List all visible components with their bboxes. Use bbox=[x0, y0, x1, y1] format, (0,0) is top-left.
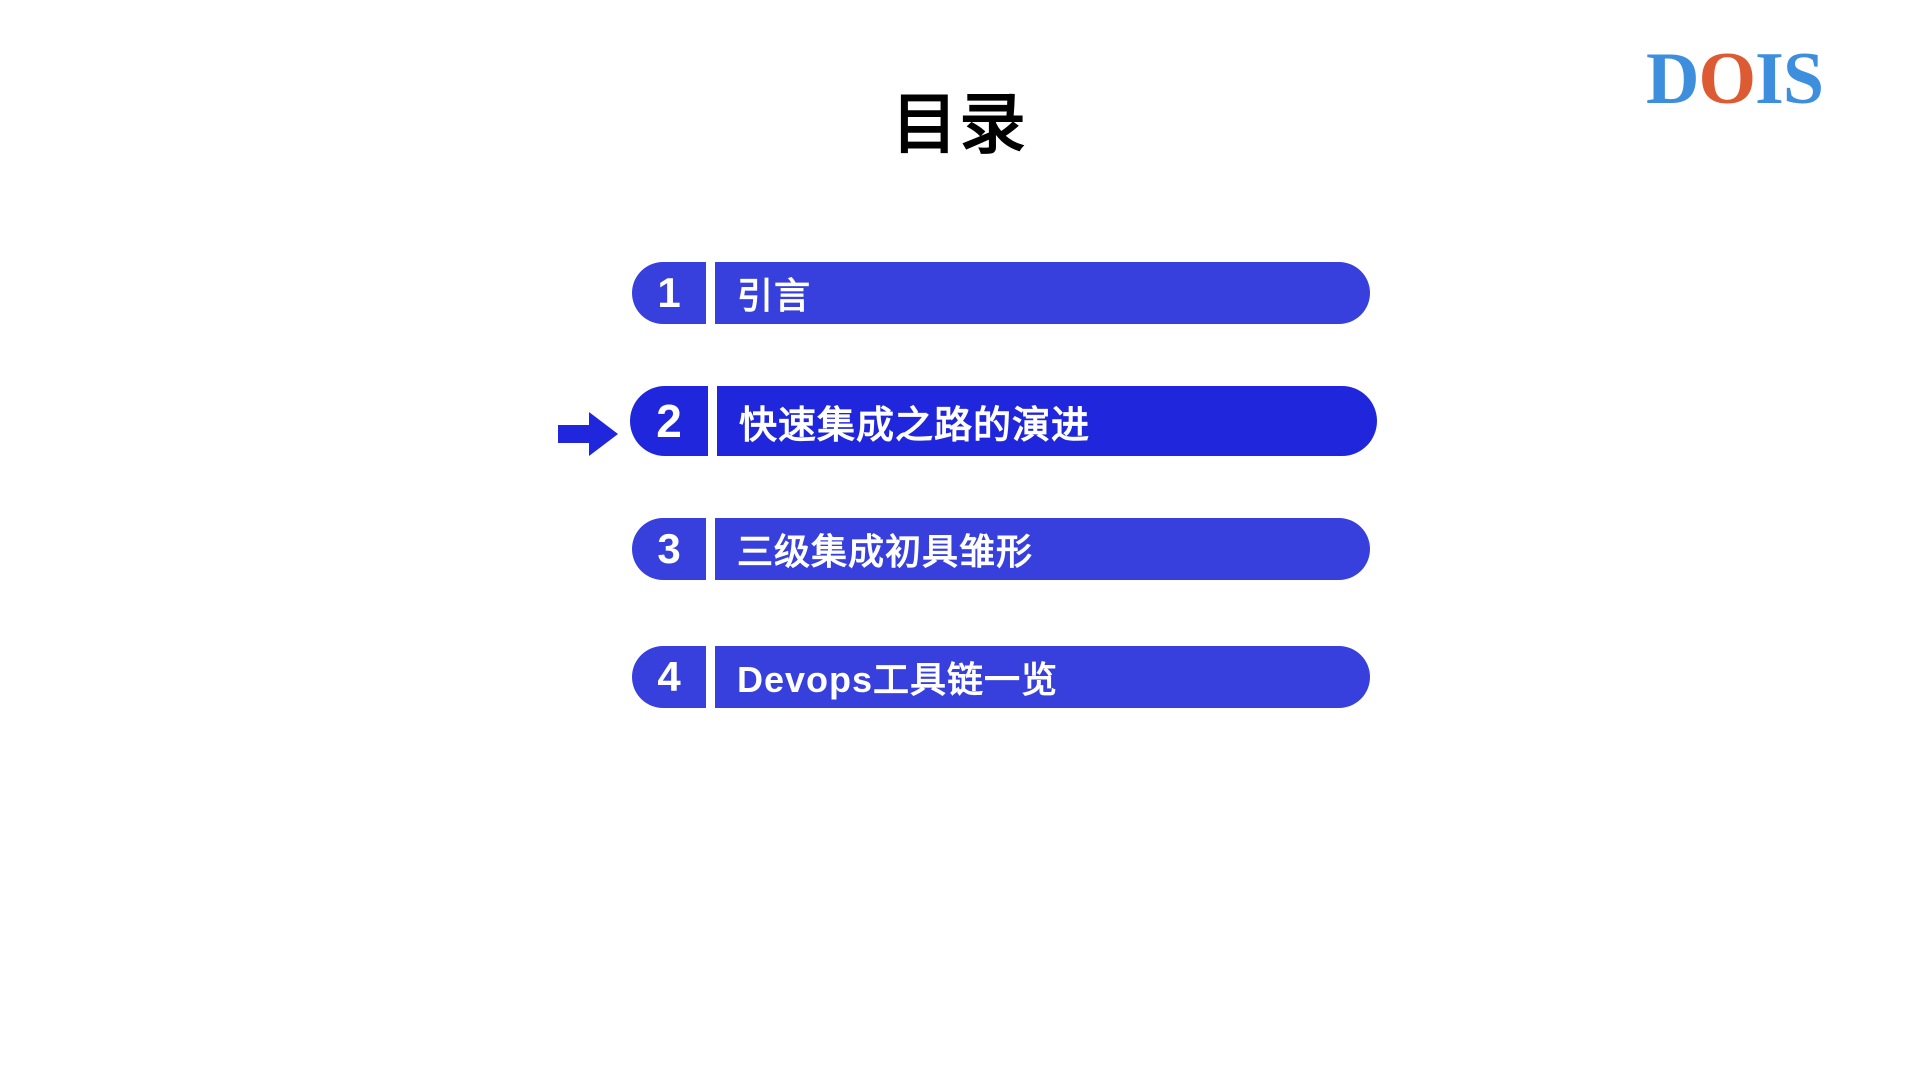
toc-number-badge: 3 bbox=[632, 518, 706, 580]
toc-item-4[interactable]: 4 Devops工具链一览 bbox=[632, 646, 1370, 708]
toc-divider bbox=[706, 646, 715, 708]
toc-item-label: 三级集成初具雏形 bbox=[715, 518, 1370, 580]
toc-row: 3 三级集成初具雏形 bbox=[0, 518, 1919, 646]
toc-item-3[interactable]: 3 三级集成初具雏形 bbox=[632, 518, 1370, 580]
toc-row: 4 Devops工具链一览 bbox=[0, 646, 1919, 774]
toc-list: 1 引言 2 快速集成之路的演进 3 三级集成初具雏形 4 Devops工 bbox=[0, 262, 1919, 774]
toc-item-1[interactable]: 1 引言 bbox=[632, 262, 1370, 324]
page-title: 目录 bbox=[0, 88, 1919, 161]
toc-divider bbox=[708, 386, 717, 456]
toc-divider bbox=[706, 518, 715, 580]
toc-divider bbox=[706, 262, 715, 324]
toc-number-badge: 4 bbox=[632, 646, 706, 708]
toc-number-badge: 2 bbox=[630, 386, 708, 456]
toc-item-label: 引言 bbox=[715, 262, 1370, 324]
toc-row: 2 快速集成之路的演进 bbox=[0, 390, 1919, 518]
toc-item-label: 快速集成之路的演进 bbox=[717, 386, 1377, 456]
arrow-right-icon bbox=[558, 412, 618, 456]
toc-item-label: Devops工具链一览 bbox=[715, 646, 1370, 708]
toc-number-badge: 1 bbox=[632, 262, 706, 324]
toc-item-2[interactable]: 2 快速集成之路的演进 bbox=[630, 386, 1377, 456]
toc-row: 1 引言 bbox=[0, 262, 1919, 390]
